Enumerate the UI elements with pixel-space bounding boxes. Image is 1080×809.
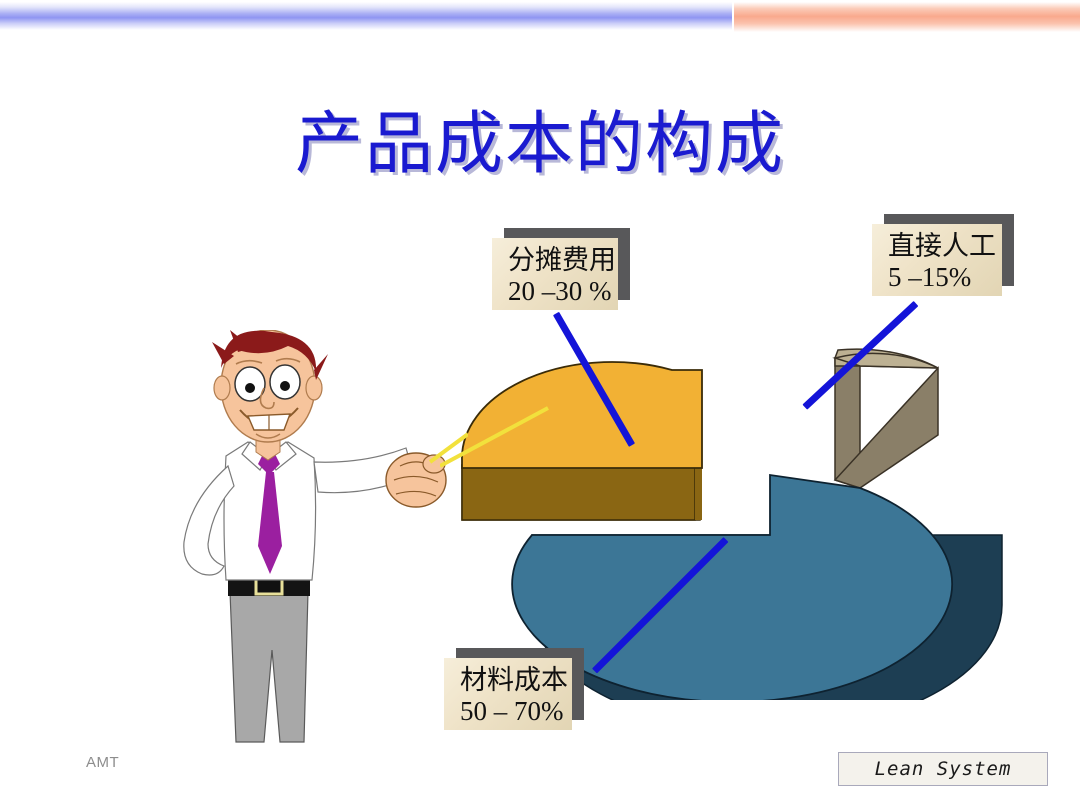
callout-value: 50 – 70% — [460, 696, 558, 727]
footer-brand-label: Lean System — [875, 758, 1012, 780]
callout-value: 20 –30 % — [508, 276, 604, 307]
pointer-stick-extension — [440, 404, 550, 474]
hand-fist — [386, 453, 446, 507]
callout-title: 分摊费用 — [508, 246, 604, 276]
slide-canvas: 产品成本的构成 — [0, 0, 1080, 809]
page-title: 产品成本的构成 — [0, 88, 1080, 187]
callout-labor: 直接人工 5 –15% — [872, 224, 1002, 296]
trousers — [230, 592, 308, 742]
pie-chart-3d — [440, 320, 1040, 700]
callout-box: 直接人工 5 –15% — [872, 224, 1002, 296]
header-bar-orange — [734, 2, 1080, 32]
callout-overhead: 分摊费用 20 –30 % — [492, 238, 618, 310]
footer-watermark: AMT — [86, 754, 119, 771]
pie-slice-labor — [835, 349, 938, 488]
cartoon-presenter — [168, 330, 468, 750]
header-bar-blue — [0, 2, 732, 30]
callout-title: 材料成本 — [460, 666, 558, 696]
callout-value: 5 –15% — [888, 262, 988, 293]
footer-brand-box: Lean System — [838, 752, 1048, 786]
callout-box: 分摊费用 20 –30 % — [492, 238, 618, 310]
callout-title: 直接人工 — [888, 232, 988, 262]
